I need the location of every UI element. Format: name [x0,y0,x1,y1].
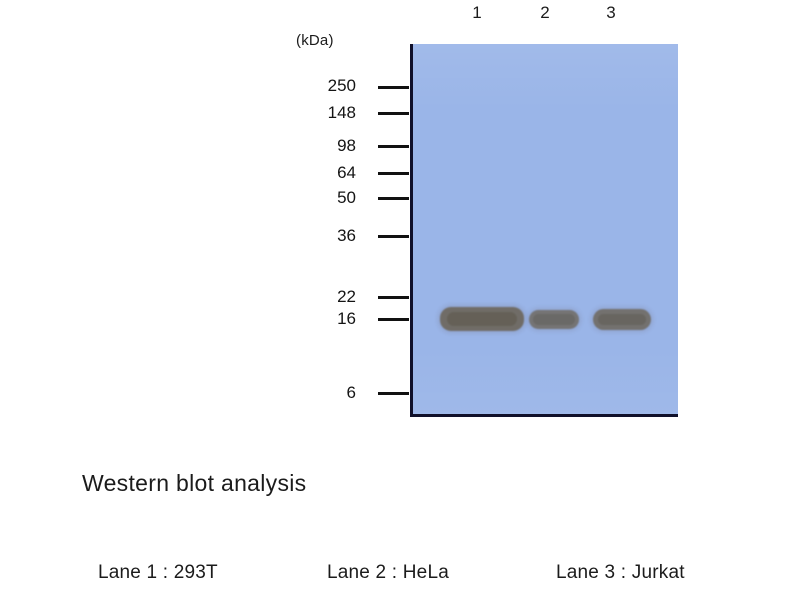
marker-tick-64 [378,172,409,175]
marker-tick-50 [378,197,409,200]
marker-label-64: 64 [286,164,356,181]
marker-label-36: 36 [286,227,356,244]
lane-legend-3: Lane 3 : Jurkat [556,562,685,584]
marker-label-98: 98 [286,137,356,154]
marker-label-250: 250 [286,77,356,94]
gel-sheen-overlay [413,44,678,414]
marker-label-22: 22 [286,288,356,305]
marker-tick-22 [378,296,409,299]
marker-label-50: 50 [286,189,356,206]
figure-caption: Western blot analysis [82,470,306,497]
blot-membrane-panel [410,44,678,417]
kda-units-label: (kDa) [296,32,334,49]
marker-label-16: 16 [286,310,356,327]
lane-header-3: 3 [596,3,626,23]
marker-tick-148 [378,112,409,115]
marker-tick-36 [378,235,409,238]
marker-tick-98 [378,145,409,148]
protein-band-lane-2 [529,310,579,329]
marker-tick-6 [378,392,409,395]
marker-label-148: 148 [286,104,356,121]
marker-tick-16 [378,318,409,321]
lane-header-1: 1 [462,3,492,23]
marker-label-6: 6 [286,384,356,401]
lane-header-2: 2 [530,3,560,23]
lane-legend-1: Lane 1 : 293T [98,562,218,584]
protein-band-lane-1 [440,307,524,331]
western-blot-figure: 1 2 3 (kDa) 250 148 98 64 50 36 22 16 6 … [0,0,800,600]
marker-tick-250 [378,86,409,89]
lane-legend-2: Lane 2 : HeLa [327,562,449,584]
protein-band-lane-3 [593,309,651,330]
